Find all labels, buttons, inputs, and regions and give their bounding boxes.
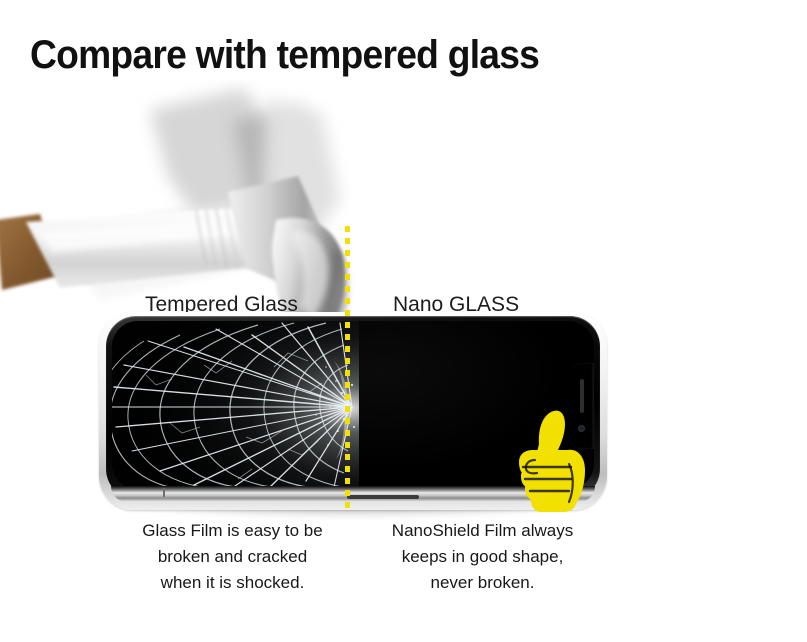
comparison-infographic: Compare with tempered glass (0, 0, 807, 642)
yellow-dashed-divider (345, 226, 350, 514)
page-title: Compare with tempered glass (30, 32, 539, 78)
shattered-screen-half (112, 321, 359, 489)
device-seam-mark (163, 488, 165, 497)
thumbs-up-icon (505, 404, 587, 514)
speaker-slot-icon (347, 495, 419, 499)
caption-nano-glass: NanoShield Film always keeps in good sha… (360, 518, 605, 596)
caption-tempered-glass: Glass Film is easy to be broken and crac… (110, 518, 355, 596)
